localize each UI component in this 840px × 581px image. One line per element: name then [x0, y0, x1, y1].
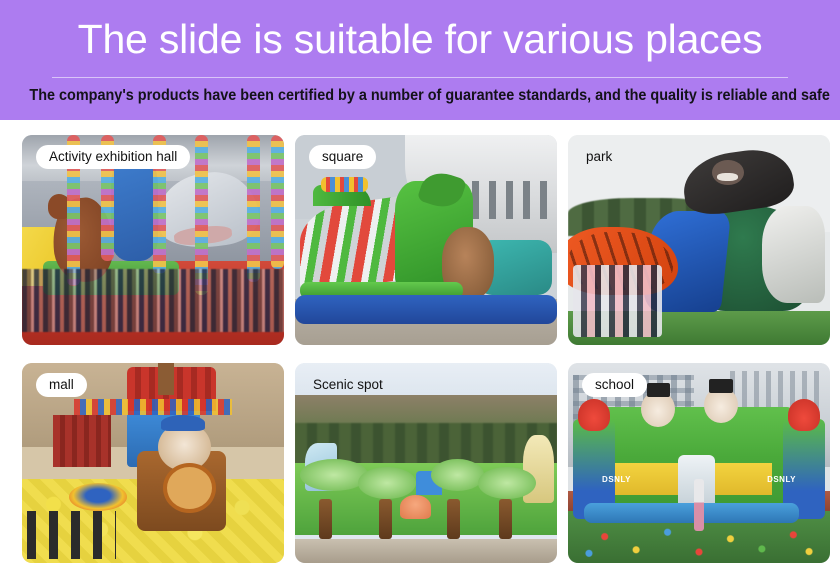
- sailor-hat: [161, 415, 206, 431]
- balloon-column: [271, 135, 284, 269]
- chimney: [158, 363, 174, 395]
- card-label-activity-exhibition-hall: Activity exhibition hall: [36, 145, 190, 169]
- foreground-path: [295, 539, 557, 563]
- gallery-card-activity-exhibition-hall[interactable]: Activity exhibition hall: [22, 135, 284, 345]
- inflatable-tree-trunk: [319, 499, 332, 539]
- gallery-card-school[interactable]: DSNLY DSNLY school: [568, 363, 830, 563]
- inflatable-tree-trunk: [447, 499, 460, 539]
- card-label-school: school: [582, 373, 647, 397]
- gallery-card-mall[interactable]: mall: [22, 363, 284, 563]
- round-trampoline: [69, 483, 127, 511]
- blue-inflatable-base: [295, 295, 557, 324]
- orange-dome: [400, 495, 431, 519]
- card-label-park: park: [582, 145, 625, 169]
- card-label-square: square: [309, 145, 376, 169]
- title-divider: [52, 77, 788, 78]
- card-label-mall: mall: [36, 373, 87, 397]
- red-flame-decoration: [788, 399, 819, 431]
- decorative-top-balls: [321, 177, 368, 192]
- red-flame-decoration: [578, 399, 609, 431]
- black-play-cones: [27, 511, 116, 559]
- gallery-card-park[interactable]: park: [568, 135, 830, 345]
- inflatable-tree-trunk: [379, 499, 392, 539]
- gallery-card-square[interactable]: square: [295, 135, 557, 345]
- castle-brand-text-left: DSNLY: [602, 475, 631, 484]
- visitor-crowd: [22, 269, 284, 332]
- photo-gallery-grid: Activity exhibition hall square: [0, 120, 840, 581]
- balloon-column: [247, 135, 260, 282]
- red-curtain-structure: [53, 415, 111, 467]
- inflatable-tree-trunk: [499, 499, 512, 539]
- inflatable-tree-canopy: [478, 467, 536, 499]
- bunting-flags: [74, 399, 231, 415]
- inflatable-tree-canopy: [358, 467, 416, 499]
- page-subtitle: The company's products have been certifi…: [29, 85, 810, 107]
- card-label-scenic-spot: Scenic spot: [309, 373, 396, 397]
- clown-hat-right: [709, 379, 733, 393]
- gallery-card-scenic-spot[interactable]: Scenic spot: [295, 363, 557, 563]
- child-figure: [694, 479, 704, 531]
- header-banner: The slide is suitable for various places…: [0, 0, 840, 120]
- page-title: The slide is suitable for various places: [0, 14, 840, 64]
- castle-brand-text-right: DSNLY: [767, 475, 796, 484]
- gorilla-mouth: [717, 173, 738, 181]
- white-slide-wing: [762, 206, 825, 303]
- ship-steering-wheel: [163, 463, 216, 513]
- promo-page: The slide is suitable for various places…: [0, 0, 840, 581]
- park-visitors: [573, 265, 662, 336]
- clown-hat-left: [647, 383, 671, 397]
- inflatable-tree-canopy: [431, 459, 483, 491]
